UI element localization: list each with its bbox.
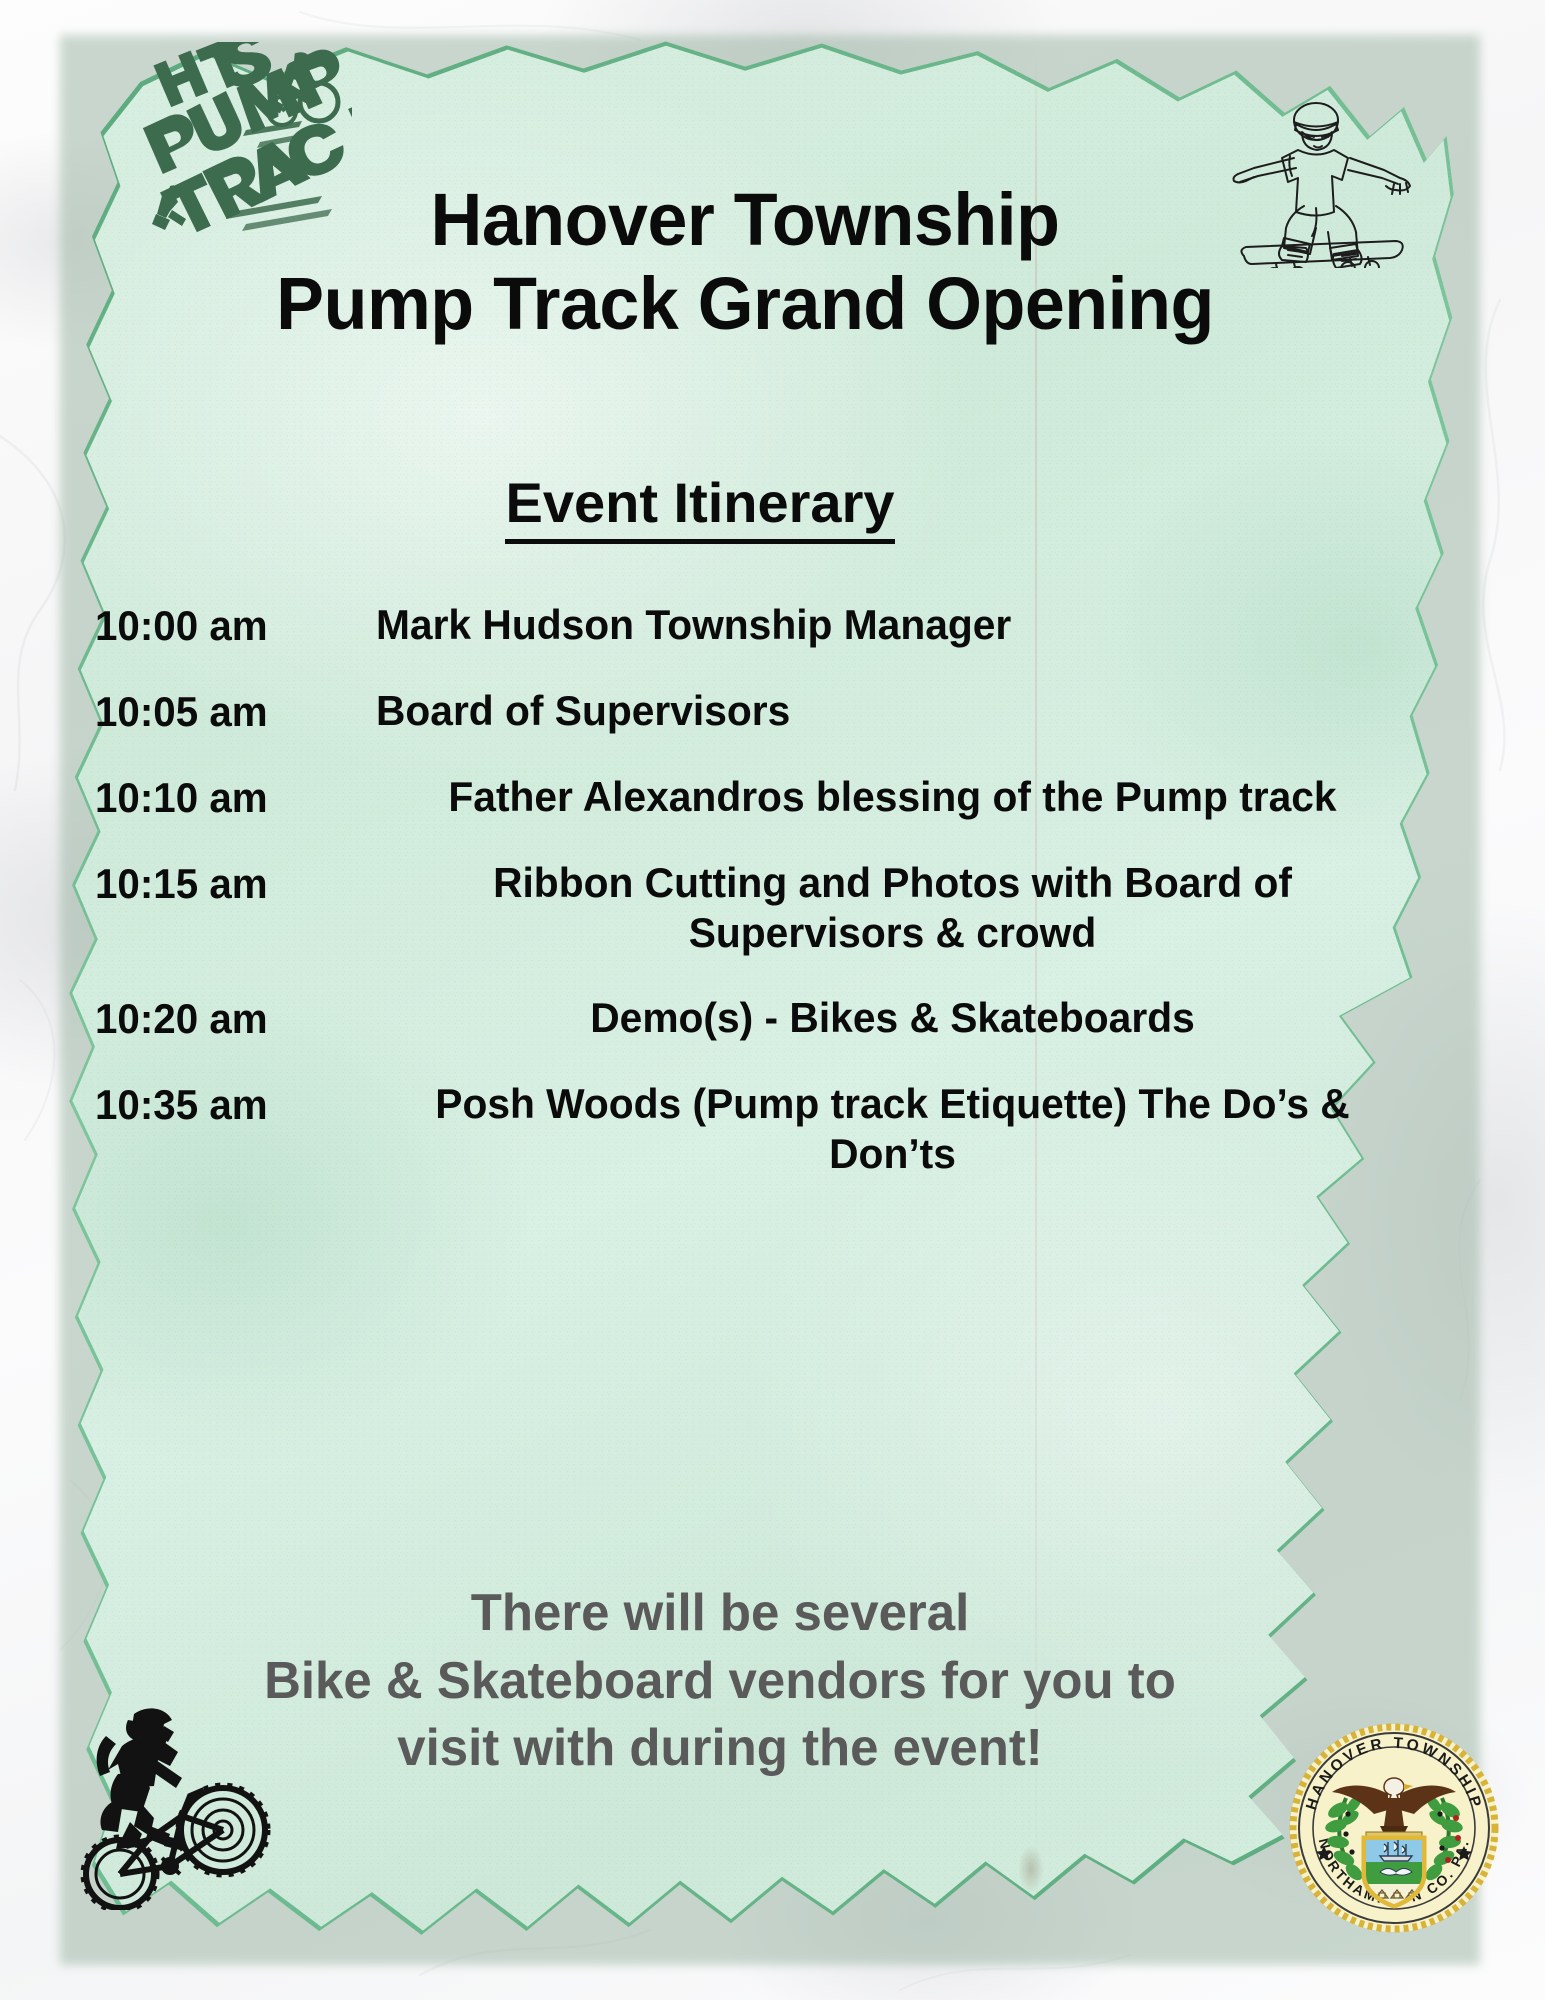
schedule-time: 10:10 am <box>95 772 349 822</box>
vendor-note-line-1: There will be several <box>117 1580 1322 1648</box>
title-line-1: Hanover Township <box>168 178 1322 262</box>
schedule-description: Demo(s) - Bikes & Skateboards <box>376 993 1409 1043</box>
schedule-row: 10:00 amMark Hudson Township Manager <box>95 600 1425 650</box>
schedule-description: Board of Supervisors <box>376 686 1409 736</box>
schedule-row: 10:05 amBoard of Supervisors <box>95 686 1425 736</box>
schedule-time: 10:35 am <box>95 1079 349 1129</box>
schedule-time: 10:05 am <box>95 686 349 736</box>
title-line-2: Pump Track Grand Opening <box>168 262 1322 346</box>
page-title: Hanover Township Pump Track Grand Openin… <box>168 178 1322 347</box>
schedule-description: Posh Woods (Pump track Etiquette) The Do… <box>376 1079 1409 1178</box>
schedule-description: Ribbon Cutting and Photos with Board of … <box>376 858 1409 957</box>
vendor-note-line-2: Bike & Skateboard vendors for you to <box>117 1648 1322 1716</box>
itinerary-heading-text: Event Itinerary <box>505 470 894 544</box>
event-schedule-list: 10:00 amMark Hudson Township Manager10:0… <box>95 600 1425 1214</box>
vendor-note: There will be several Bike & Skateboard … <box>117 1580 1322 1783</box>
schedule-time: 10:20 am <box>95 993 349 1043</box>
itinerary-heading: Event Itinerary <box>150 470 1250 544</box>
schedule-time: 10:00 am <box>95 600 349 650</box>
schedule-row: 10:35 amPosh Woods (Pump track Etiquette… <box>95 1079 1425 1178</box>
schedule-description: Father Alexandros blessing of the Pump t… <box>376 772 1409 822</box>
schedule-row: 10:20 amDemo(s) - Bikes & Skateboards <box>95 993 1425 1043</box>
schedule-row: 10:10 amFather Alexandros blessing of th… <box>95 772 1425 822</box>
schedule-description: Mark Hudson Township Manager <box>376 600 1409 650</box>
vendor-note-line-3: visit with during the event! <box>117 1715 1322 1783</box>
schedule-row: 10:15 amRibbon Cutting and Photos with B… <box>95 858 1425 957</box>
poster-canvas: HANOVER TOWNSHIP NORTHAMPTON CO. PA. <box>0 0 1545 2000</box>
schedule-time: 10:15 am <box>95 858 349 908</box>
